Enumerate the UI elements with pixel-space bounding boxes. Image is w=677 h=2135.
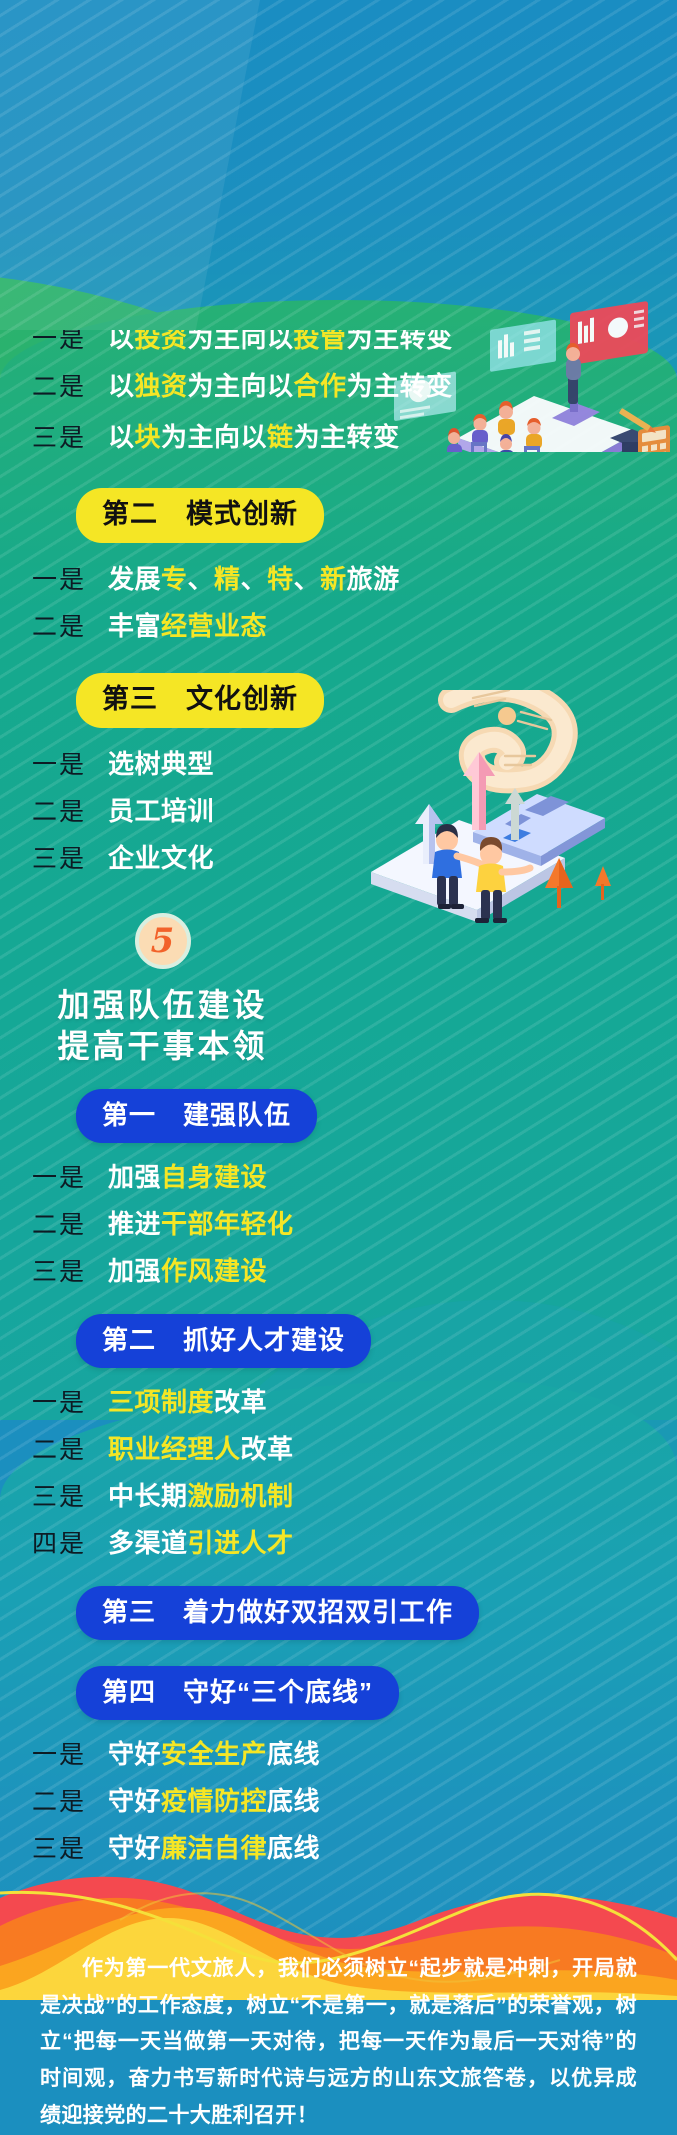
list-item-text: 守好疫情防控底线 (108, 1781, 320, 1818)
plain-text: 底线 (267, 1833, 320, 1863)
list-item-index: 二是 (0, 1430, 86, 1466)
list-item: 三是企业文化 (0, 838, 677, 875)
list-item-text: 推进干部年轻化 (108, 1204, 294, 1241)
list-item: 一是以投资为主向以投管为主转变 (0, 330, 677, 352)
highlight-text: 职业经理人 (108, 1434, 241, 1464)
plain-text: 加强 (108, 1256, 161, 1286)
block-items: 一是加强自身建设二是推进干部年轻化三是加强作风建设 (0, 1157, 677, 1288)
list-item-index: 二是 (0, 1782, 86, 1818)
closing-paragraph: 作为第一代文旅人，我们必须树立“起步就是冲刺，开局就是决战”的工作态度，树立“不… (40, 1951, 637, 2135)
list-item-index: 二是 (0, 792, 86, 828)
plain-text: 为主向以 (161, 422, 267, 452)
list-item-text: 职业经理人改革 (108, 1429, 294, 1466)
list-item: 二是以独资为主向以合作为主转变 (0, 366, 677, 403)
list-item-text: 企业文化 (108, 838, 214, 875)
list-item: 三是守好廉洁自律底线 (0, 1828, 677, 1865)
block-items: 一是三项制度改革二是职业经理人改革三是中长期激励机制四是多渠道引进人才 (0, 1382, 677, 1560)
plain-text: 多渠道 (108, 1528, 188, 1558)
list-item-index: 三是 (0, 839, 86, 875)
list-item-text: 守好廉洁自律底线 (108, 1828, 320, 1865)
block-items: 一是守好安全生产底线二是守好疫情防控底线三是守好廉洁自律底线 (0, 1734, 677, 1865)
list-item: 一是守好安全生产底线 (0, 1734, 677, 1771)
banner-4[interactable]: 第四 守好“三个底线” (76, 1666, 399, 1720)
list-item-index: 一是 (0, 1735, 86, 1771)
section-number: 5 (151, 924, 175, 958)
plain-text: 企业文化 (108, 843, 214, 873)
plain-text: 以 (108, 422, 135, 452)
list-item-index: 三是 (0, 1252, 86, 1288)
banner-1[interactable]: 第一 建强队伍 (76, 1089, 317, 1143)
plain-text: 、 (294, 564, 321, 594)
list-item: 三是中长期激励机制 (0, 1476, 677, 1513)
plain-text: 底线 (267, 1739, 320, 1769)
list-item-text: 加强自身建设 (108, 1157, 267, 1194)
highlight-text: 特 (267, 564, 294, 594)
list-item: 二是推进干部年轻化 (0, 1204, 677, 1241)
list-item-text: 选树典型 (108, 744, 214, 781)
list-item: 四是多渠道引进人才 (0, 1523, 677, 1560)
list-item-index: 一是 (0, 1158, 86, 1194)
section-number-badge: 5 (135, 913, 191, 969)
list-item-text: 守好安全生产底线 (108, 1734, 320, 1771)
highlight-text: 专 (161, 564, 188, 594)
plain-text: 员工培训 (108, 796, 214, 826)
highlight-text: 投管 (294, 330, 347, 352)
list-item-text: 丰富经营业态 (108, 606, 267, 643)
plain-text: 守好 (108, 1833, 161, 1863)
list-item-index: 一是 (0, 330, 86, 352)
plain-text: 为主向以 (188, 330, 294, 352)
banner-culture-innovation[interactable]: 第三 文化创新 (76, 673, 324, 728)
plain-text: 加强 (108, 1162, 161, 1192)
plain-text: 改革 (241, 1434, 294, 1464)
highlight-text: 块 (135, 422, 162, 452)
section-title-line-2: 提高干事本领 (0, 1026, 325, 1067)
section-title-line-1: 加强队伍建设 (0, 985, 325, 1026)
plain-text: 、 (188, 564, 215, 594)
list-item-index: 一是 (0, 745, 86, 781)
plain-text: 为主转变 (347, 371, 453, 401)
list-item: 三是以块为主向以链为主转变 (0, 417, 677, 454)
list-item: 一是发展专、精、特、新旅游 (0, 559, 677, 596)
mode-innovation-items: 一是发展专、精、特、新旅游二是丰富经营业态 (0, 559, 677, 643)
plain-text: 、 (241, 564, 268, 594)
list-item-text: 员工培训 (108, 791, 214, 828)
plain-text: 改革 (214, 1387, 267, 1417)
highlight-text: 自身建设 (161, 1162, 267, 1192)
highlight-text: 经营业态 (161, 611, 267, 641)
highlight-text: 三项制度 (108, 1387, 214, 1417)
list-item-text: 多渠道引进人才 (108, 1523, 294, 1560)
highlight-text: 精 (214, 564, 241, 594)
list-item: 一是三项制度改革 (0, 1382, 677, 1419)
plain-text: 以 (108, 330, 135, 352)
plain-text: 为主转变 (294, 422, 400, 452)
plain-text: 旅游 (347, 564, 400, 594)
list-item-index: 二是 (0, 367, 86, 403)
list-item-text: 以独资为主向以合作为主转变 (108, 366, 453, 403)
list-item-text: 中长期激励机制 (108, 1476, 294, 1513)
list-item-index: 一是 (0, 1383, 86, 1419)
list-item: 一是选树典型 (0, 744, 677, 781)
section-five-block: 第二 抓好人才建设一是三项制度改革二是职业经理人改革三是中长期激励机制四是多渠道… (0, 1314, 677, 1560)
section-five-block: 第一 建强队伍一是加强自身建设二是推进干部年轻化三是加强作风建设 (0, 1089, 677, 1288)
highlight-text: 安全生产 (161, 1739, 267, 1769)
list-item: 二是丰富经营业态 (0, 606, 677, 643)
list-item-index: 二是 (0, 607, 86, 643)
list-item-text: 发展专、精、特、新旅游 (108, 559, 400, 596)
plain-text: 守好 (108, 1786, 161, 1816)
plain-text: 为主转变 (347, 330, 453, 352)
banner-3[interactable]: 第三 着力做好双招双引工作 (76, 1586, 479, 1640)
list-item: 二是员工培训 (0, 791, 677, 828)
highlight-text: 投资 (135, 330, 188, 352)
list-item-index: 四是 (0, 1524, 86, 1560)
list-item: 一是加强自身建设 (0, 1157, 677, 1194)
list-item-index: 三是 (0, 1829, 86, 1865)
highlight-text: 新 (320, 564, 347, 594)
highlight-text: 作风建设 (161, 1256, 267, 1286)
banner-2[interactable]: 第二 抓好人才建设 (76, 1314, 371, 1368)
section-five-block: 第三 着力做好双招双引工作 (0, 1586, 677, 1640)
list-item: 三是加强作风建设 (0, 1251, 677, 1288)
plain-text: 守好 (108, 1739, 161, 1769)
list-item-text: 以投资为主向以投管为主转变 (108, 330, 453, 352)
highlight-text: 干部年轻化 (161, 1209, 294, 1239)
plain-text: 中长期 (108, 1481, 188, 1511)
plain-text: 选树典型 (108, 749, 214, 779)
section-five-blocks: 第一 建强队伍一是加强自身建设二是推进干部年轻化三是加强作风建设第二 抓好人才建… (0, 1089, 677, 1865)
list-item-index: 二是 (0, 1205, 86, 1241)
top-partial-items: 一是以投资为主向以投管为主转变 二是以独资为主向以合作为主转变 三是以块为主向以… (0, 330, 677, 454)
list-item-index: 三是 (0, 1477, 86, 1513)
list-item-index: 一是 (0, 560, 86, 596)
list-item-text: 加强作风建设 (108, 1251, 267, 1288)
highlight-text: 独资 (135, 371, 188, 401)
highlight-text: 激励机制 (188, 1481, 294, 1511)
list-item-text: 三项制度改革 (108, 1382, 267, 1419)
plain-text: 底线 (267, 1786, 320, 1816)
highlight-text: 合作 (294, 371, 347, 401)
list-item: 二是职业经理人改革 (0, 1429, 677, 1466)
plain-text: 推进 (108, 1209, 161, 1239)
culture-innovation-items: 一是选树典型二是员工培训三是企业文化 (0, 744, 677, 875)
banner-mode-innovation[interactable]: 第二 模式创新 (76, 488, 324, 543)
plain-text: 为主向以 (188, 371, 294, 401)
highlight-text: 疫情防控 (161, 1786, 267, 1816)
list-item-index: 三是 (0, 418, 86, 454)
list-item: 二是守好疫情防控底线 (0, 1781, 677, 1818)
highlight-text: 链 (267, 422, 294, 452)
section-five-block: 第四 守好“三个底线”一是守好安全生产底线二是守好疫情防控底线三是守好廉洁自律底… (0, 1666, 677, 1865)
highlight-text: 引进人才 (188, 1528, 294, 1558)
plain-text: 以 (108, 371, 135, 401)
plain-text: 丰富 (108, 611, 161, 641)
highlight-text: 廉洁自律 (161, 1833, 267, 1863)
plain-text: 发展 (108, 564, 161, 594)
list-item-text: 以块为主向以链为主转变 (108, 417, 400, 454)
